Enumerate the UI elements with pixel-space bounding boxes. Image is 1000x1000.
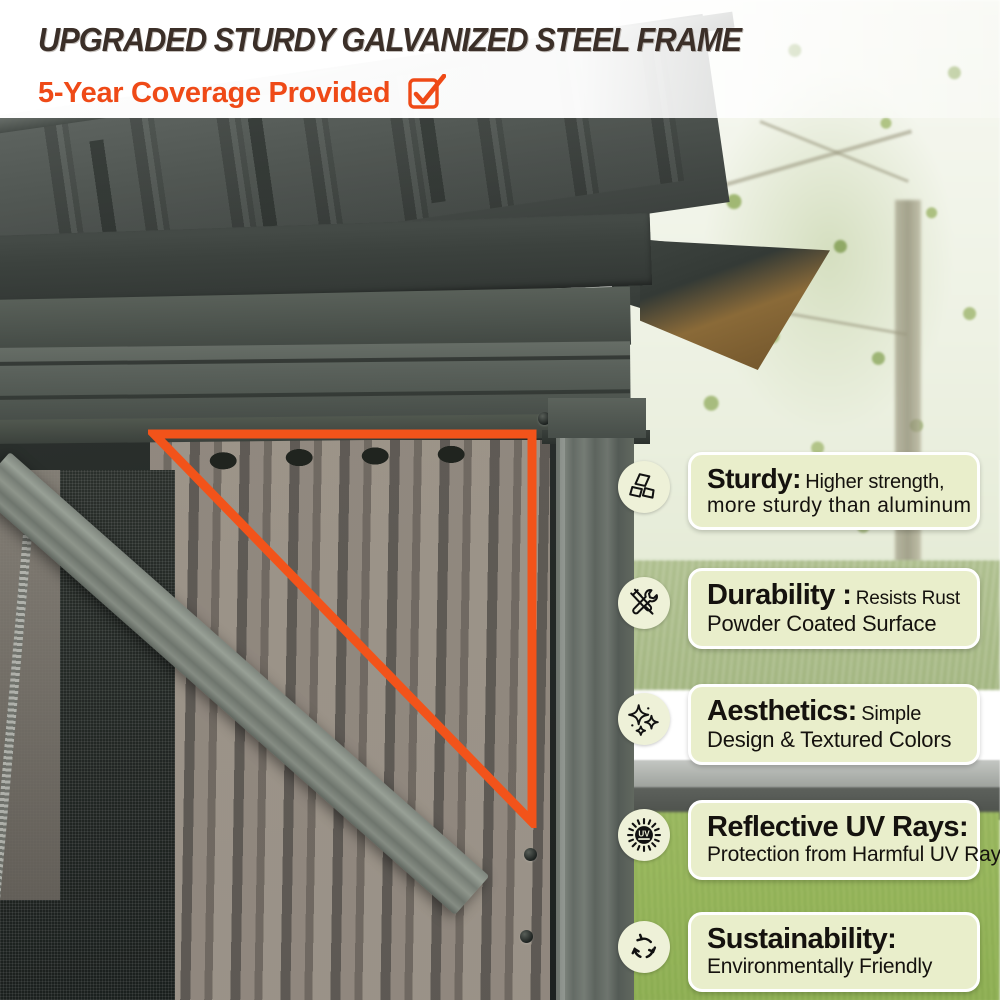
feature-text: Environmentally Friendly: [707, 955, 932, 978]
brace-bolt: [520, 930, 533, 943]
page-title: UPGRADED STURDY GALVANIZED STEEL FRAME: [38, 21, 741, 59]
subtitle-row: 5-Year Coverage Provided: [38, 74, 446, 112]
feature-heading: Sturdy:: [707, 463, 801, 494]
feature-heading: Reflective UV Rays:: [707, 811, 968, 843]
feature-heading: Aesthetics:: [707, 695, 857, 727]
feature-text: more sturdy than aluminum: [707, 494, 971, 517]
brace-bolt: [524, 848, 537, 861]
feature-line-1: Durability : Resists Rust: [707, 580, 966, 611]
feature-sturdy[interactable]: Sturdy: Higher strength, more sturdy tha…: [618, 452, 982, 522]
sparkles-icon: [618, 693, 670, 745]
feature-line-2: Environmentally Friendly: [707, 955, 966, 980]
feature-line-2: Design & Textured Colors: [707, 727, 966, 753]
feature-text: Resists Rust: [856, 588, 960, 609]
wrench-screwdriver-icon: [618, 577, 670, 629]
feature-line-1: Sturdy: Higher strength,: [707, 464, 966, 494]
checkbox-check-icon: [406, 74, 446, 112]
feature-sustainability-box: Sustainability: Environmentally Friendly: [688, 912, 980, 992]
feature-line-2: more sturdy than aluminum: [707, 494, 966, 519]
feature-text: Powder Coated Surface: [707, 611, 936, 636]
feature-heading: Durability :: [707, 579, 851, 611]
feature-text: Higher strength,: [805, 471, 944, 493]
feature-line-2: Protection from Harmful UV Rays: [707, 843, 966, 868]
feature-reflective-uv-rays[interactable]: UV Reflective UV Rays: Protection from H…: [618, 800, 982, 870]
recycle-icon: [618, 921, 670, 973]
feature-aesthetics[interactable]: Aesthetics: Simple Design & Textured Col…: [618, 684, 982, 754]
coverage-subtitle: 5-Year Coverage Provided: [38, 77, 390, 110]
tree-trunk: [895, 200, 921, 620]
uv-sun-icon: UV: [618, 809, 670, 861]
feature-aesthetics-box: Aesthetics: Simple Design & Textured Col…: [688, 684, 980, 765]
feature-uv-box: Reflective UV Rays: Protection from Harm…: [688, 800, 980, 880]
feature-durability-box: Durability : Resists Rust Powder Coated …: [688, 568, 980, 649]
feature-sturdy-box: Sturdy: Higher strength, more sturdy tha…: [688, 452, 980, 530]
feature-line-2: Powder Coated Surface: [707, 611, 966, 637]
post-cap: [548, 398, 646, 438]
product-infographic: UPGRADED STURDY GALVANIZED STEEL FRAME 5…: [0, 0, 1000, 1000]
steel-bars-icon: [618, 461, 670, 513]
post-highlight: [560, 430, 565, 1000]
feature-sustainability[interactable]: Sustainability: Environmentally Friendly: [618, 912, 982, 982]
feature-line-1: Sustainability:: [707, 924, 966, 955]
feature-line-1: Aesthetics: Simple: [707, 696, 966, 727]
feature-text: Design & Textured Colors: [707, 727, 951, 752]
feature-line-1: Reflective UV Rays:: [707, 812, 966, 843]
feature-text: Simple: [861, 703, 921, 725]
feature-heading: Sustainability:: [707, 923, 896, 955]
svg-text:UV: UV: [638, 829, 650, 838]
feature-durability[interactable]: Durability : Resists Rust Powder Coated …: [618, 568, 982, 638]
corner-brace-highlight: [148, 428, 538, 828]
feature-text: Protection from Harmful UV Rays: [707, 843, 1000, 866]
